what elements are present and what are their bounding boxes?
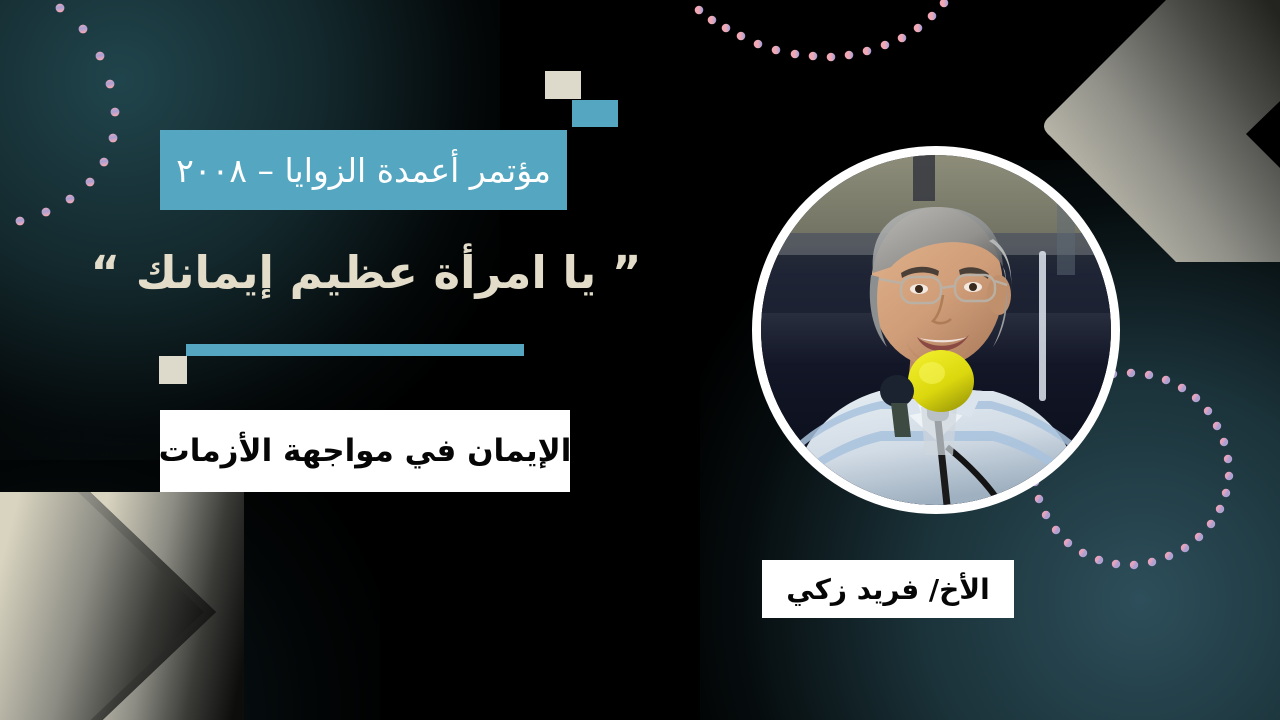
slide-headline: ” يا امرأة عظيم إيمانك “ [86,222,646,322]
dotted-arc-top-center [655,0,995,98]
portrait-photo [761,155,1111,505]
speaker-name-text: الأخ/ فريد زكي [786,573,990,606]
blue-divider-bar [186,344,524,356]
dotted-arc-top-left [0,0,150,234]
subtitle-box: الإيمان في مواجهة الأزمات [160,410,570,492]
speaker-portrait [752,146,1120,514]
conference-title: مؤتمر أعمدة الزوايا – ٢٠٠٨ [160,130,567,210]
subtitle-text: الإيمان في مواجهة الأزمات [159,433,572,469]
cream-square-top [545,71,581,99]
presentation-slide: مؤتمر أعمدة الزوايا – ٢٠٠٨ ” يا امرأة عظ… [0,0,1280,720]
portrait-illustration [761,155,1111,505]
speaker-name-box: الأخ/ فريد زكي [762,560,1014,618]
chevron-right-icon [0,492,244,720]
blue-square-top [572,100,618,127]
cream-square-divider [159,356,187,384]
